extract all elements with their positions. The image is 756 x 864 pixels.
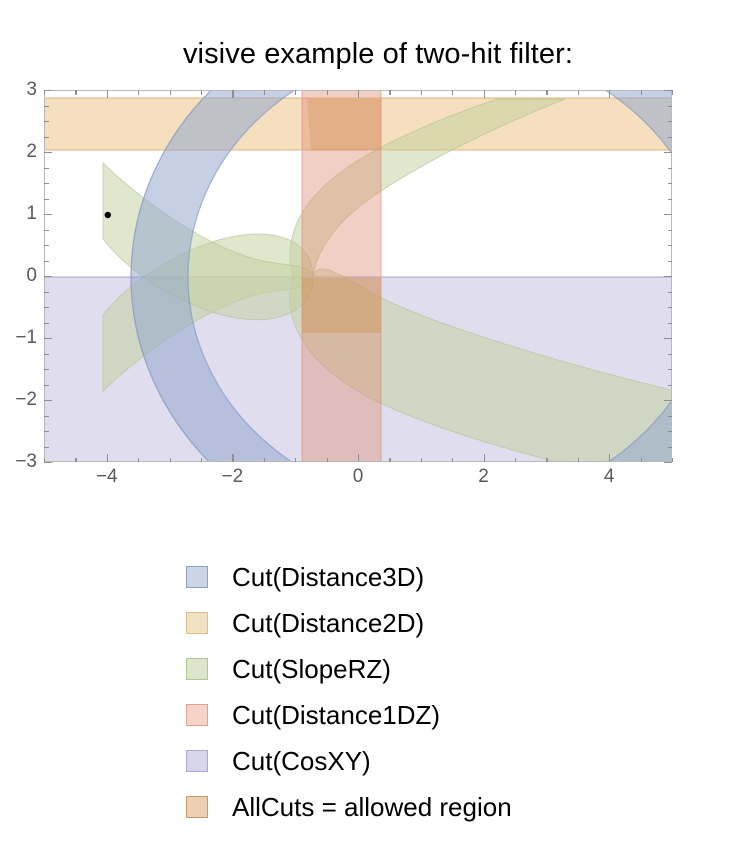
tick-mark: [264, 458, 265, 463]
x-axis-tick-label: 0: [353, 466, 364, 488]
tick-mark: [44, 323, 49, 324]
tick-mark: [264, 90, 265, 95]
tick-mark: [44, 385, 49, 386]
tick-mark: [609, 90, 610, 98]
tick-mark: [44, 307, 49, 308]
tick-mark: [668, 199, 673, 200]
tick-mark: [668, 447, 673, 448]
x-axis-tick-label: −4: [96, 466, 118, 488]
plot-canvas: [45, 91, 672, 462]
tick-mark: [664, 214, 672, 215]
legend-swatch-icon: [186, 750, 208, 772]
tick-mark: [327, 90, 328, 95]
legend-item-label: Cut(Distance3D): [232, 562, 424, 593]
tick-mark: [668, 183, 673, 184]
y-axis-tick-label: 1: [13, 203, 37, 225]
x-axis-tick-label: 4: [604, 466, 615, 488]
tick-mark: [44, 230, 49, 231]
y-axis-tick-label: −3: [13, 451, 37, 473]
tick-mark: [44, 292, 49, 293]
legend-swatch-icon: [186, 612, 208, 634]
tick-mark: [452, 90, 453, 95]
tick-mark: [668, 121, 673, 122]
tick-mark: [44, 137, 49, 138]
tick-mark: [668, 261, 673, 262]
tick-mark: [668, 431, 673, 432]
tick-mark: [668, 385, 673, 386]
tick-mark: [138, 90, 139, 95]
tick-mark: [452, 458, 453, 463]
tick-mark: [668, 369, 673, 370]
tick-mark: [578, 90, 579, 95]
tick-mark: [44, 106, 49, 107]
tick-mark: [578, 458, 579, 463]
tick-mark: [44, 416, 49, 417]
tick-mark: [232, 454, 233, 462]
tick-mark: [515, 90, 516, 95]
plot-area: [44, 90, 672, 462]
tick-mark: [358, 454, 359, 462]
legend-item[interactable]: Cut(SlopeRZ): [186, 646, 666, 692]
legend-item[interactable]: Cut(CosXY): [186, 738, 666, 784]
tick-mark: [44, 152, 52, 153]
tick-mark: [201, 458, 202, 463]
tick-mark: [44, 276, 52, 277]
tick-mark: [484, 454, 485, 462]
legend-swatch-icon: [186, 796, 208, 818]
tick-mark: [327, 458, 328, 463]
tick-mark: [44, 338, 52, 339]
tick-mark: [664, 90, 672, 91]
tick-mark: [668, 230, 673, 231]
tick-mark: [44, 400, 52, 401]
tick-mark: [295, 90, 296, 95]
tick-mark: [44, 199, 49, 200]
tick-mark: [44, 121, 49, 122]
tick-mark: [664, 400, 672, 401]
tick-mark: [421, 90, 422, 95]
hit-point-marker: [105, 212, 111, 218]
legend-item-label: Cut(SlopeRZ): [232, 654, 391, 685]
legend-item[interactable]: AllCuts = allowed region: [186, 784, 666, 830]
tick-mark: [44, 462, 52, 463]
y-axis-tick-label: −2: [13, 389, 37, 411]
tick-mark: [664, 462, 672, 463]
legend-item-label: Cut(CosXY): [232, 746, 371, 777]
tick-mark: [170, 90, 171, 95]
tick-mark: [44, 90, 52, 91]
legend-swatch-icon: [186, 704, 208, 726]
tick-mark: [44, 168, 49, 169]
tick-mark: [44, 431, 49, 432]
tick-mark: [668, 416, 673, 417]
legend-item-label: Cut(Distance2D): [232, 608, 424, 639]
tick-mark: [107, 454, 108, 462]
tick-mark: [170, 458, 171, 463]
tick-mark: [44, 369, 49, 370]
tick-mark: [672, 458, 673, 463]
y-axis-tick-label: 3: [13, 79, 37, 101]
legend-item-label: AllCuts = allowed region: [232, 792, 512, 823]
tick-mark: [201, 90, 202, 95]
tick-mark: [515, 458, 516, 463]
tick-mark: [664, 152, 672, 153]
tick-mark: [44, 183, 49, 184]
tick-mark: [641, 90, 642, 95]
x-axis-tick-label: −2: [222, 466, 244, 488]
tick-mark: [641, 458, 642, 463]
tick-mark: [672, 90, 673, 95]
tick-mark: [389, 458, 390, 463]
tick-mark: [44, 261, 49, 262]
legend-item-label: Cut(Distance1DZ): [232, 700, 440, 731]
tick-mark: [107, 90, 108, 98]
tick-mark: [44, 447, 49, 448]
tick-mark: [668, 323, 673, 324]
tick-mark: [421, 458, 422, 463]
y-axis-tick-label: 0: [13, 265, 37, 287]
legend-item[interactable]: Cut(Distance3D): [186, 554, 666, 600]
tick-mark: [484, 90, 485, 98]
tick-mark: [44, 245, 49, 246]
tick-mark: [44, 354, 49, 355]
tick-mark: [546, 90, 547, 95]
chart-legend: Cut(Distance3D)Cut(Distance2D)Cut(SlopeR…: [186, 554, 666, 830]
tick-mark: [138, 458, 139, 463]
legend-swatch-icon: [186, 658, 208, 680]
tick-mark: [295, 458, 296, 463]
tick-mark: [44, 214, 52, 215]
tick-mark: [546, 458, 547, 463]
legend-swatch-icon: [186, 566, 208, 588]
tick-mark: [232, 90, 233, 98]
plot-frame: [44, 90, 672, 462]
tick-mark: [75, 458, 76, 463]
y-axis-tick-label: −1: [13, 327, 37, 349]
legend-item[interactable]: Cut(Distance2D): [186, 600, 666, 646]
tick-mark: [668, 354, 673, 355]
tick-mark: [668, 245, 673, 246]
tick-mark: [389, 90, 390, 95]
x-axis-tick-label: 2: [478, 466, 489, 488]
tick-mark: [668, 168, 673, 169]
tick-mark: [664, 338, 672, 339]
tick-mark: [668, 307, 673, 308]
tick-mark: [668, 292, 673, 293]
y-axis-tick-label: 2: [13, 141, 37, 163]
tick-mark: [668, 137, 673, 138]
tick-mark: [358, 90, 359, 98]
tick-mark: [609, 454, 610, 462]
page-title: visive example of two-hit filter:: [0, 38, 756, 71]
tick-mark: [75, 90, 76, 95]
tick-mark: [664, 276, 672, 277]
legend-item[interactable]: Cut(Distance1DZ): [186, 692, 666, 738]
tick-mark: [668, 106, 673, 107]
